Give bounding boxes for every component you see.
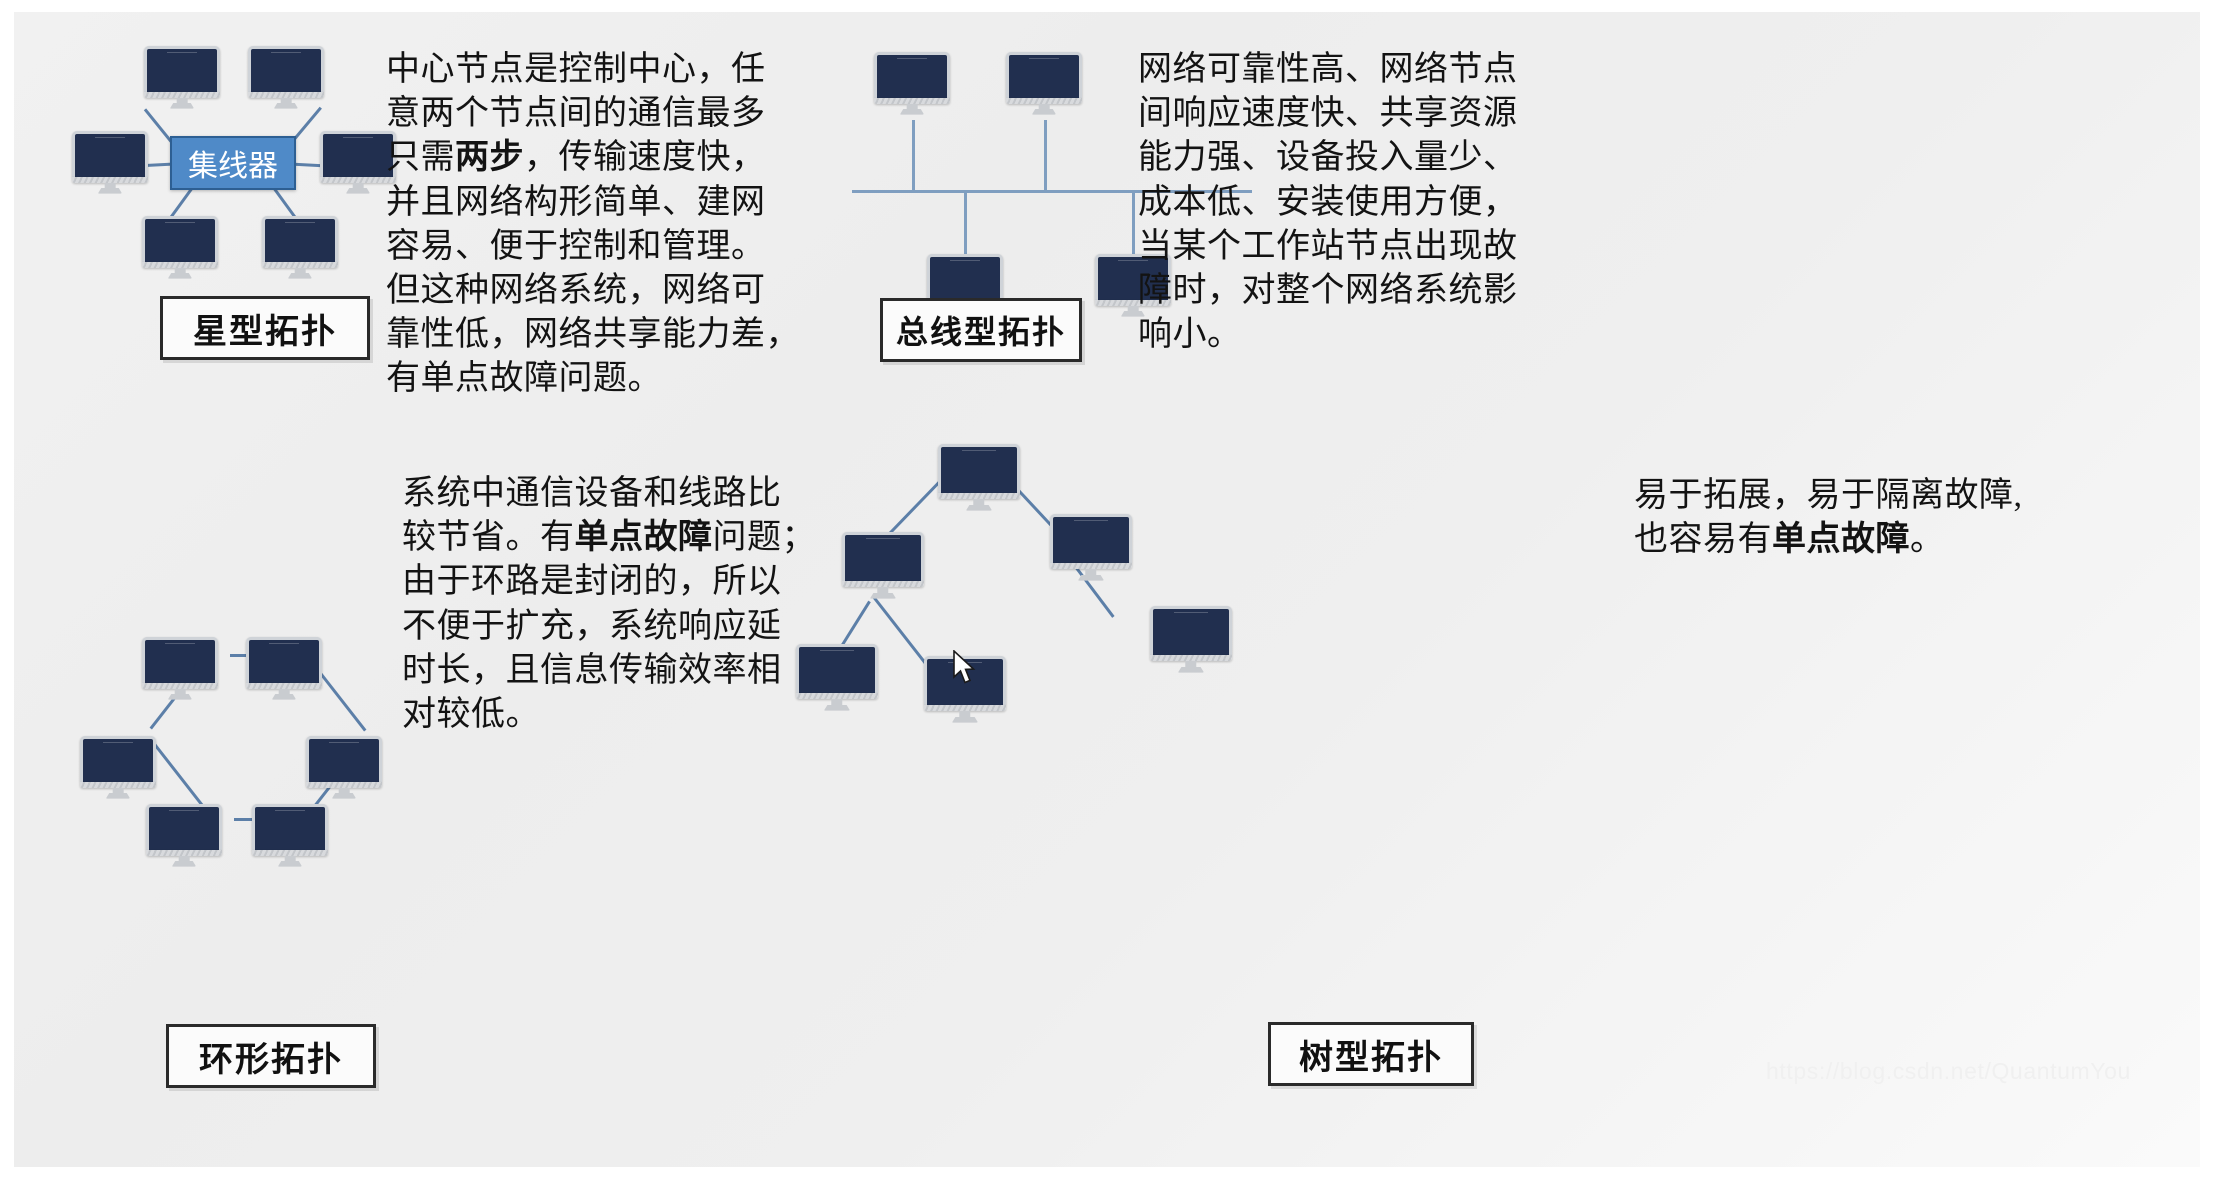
monitor-base	[796, 693, 878, 700]
monitor-screen	[142, 637, 218, 683]
tree-node-root	[938, 444, 1020, 510]
text-run: 靠性低，网络共享能力差，	[386, 316, 800, 353]
monitor-foot	[966, 505, 992, 511]
monitor-foot	[870, 593, 896, 599]
hub-box[interactable]: 集线器	[170, 136, 296, 190]
star-node-left	[72, 131, 148, 193]
ring-node-bottom-left	[146, 804, 222, 866]
tree-node-leaf-1	[796, 644, 878, 710]
text-run: 只需	[386, 139, 455, 176]
text-run: 时长，且信息传输效率相	[402, 652, 782, 689]
monitor-base	[938, 493, 1020, 500]
caption-star-topology: 星型拓扑	[160, 296, 370, 360]
star-description-text: 中心节点是控制中心，任意两个节点间的通信最多只需两步，传输速度快，并且网络构形简…	[386, 48, 786, 402]
mouse-cursor-icon	[952, 650, 978, 693]
emphasized-term: 单点故障	[575, 519, 713, 556]
text-run: 有单点故障问题。	[386, 360, 662, 397]
monitor-foot	[346, 188, 370, 194]
tree-topology-diagram	[800, 422, 1260, 752]
text-line: 当某个工作站节点出现故	[1138, 225, 1558, 269]
watermark-text: https://blog.csdn.net/QuantumYou	[1766, 1058, 2131, 1085]
text-run: 容易、便于控制和管理。	[386, 228, 766, 265]
text-run: 易于拓展，易于隔离故障,	[1634, 477, 2023, 514]
star-node-bottom-left	[142, 216, 218, 278]
text-run: 间响应速度快、共享资源	[1138, 95, 1518, 132]
monitor-foot	[170, 103, 194, 109]
text-line: 中心节点是控制中心，任	[386, 48, 786, 92]
monitor-foot	[106, 793, 130, 799]
star-node-top-right	[248, 46, 324, 108]
bus-drop-line-2	[1044, 120, 1047, 192]
text-run: 当某个工作站节点出现故	[1138, 228, 1518, 265]
tree-node-level2-right	[1050, 514, 1132, 580]
text-run: 但这种网络系统，网络可	[386, 272, 766, 309]
bus-drop-line-3	[964, 190, 967, 258]
ring-node-top-right	[246, 637, 322, 699]
text-line: 也容易有单点故障。	[1634, 518, 2074, 562]
ring-node-right	[306, 736, 382, 798]
text-run: 并且网络构形简单、建网	[386, 184, 766, 221]
hub-label: 集线器	[188, 141, 278, 185]
monitor-screen	[252, 804, 328, 850]
text-line: 间响应速度快、共享资源	[1138, 92, 1558, 136]
bus-node-top-right	[1006, 52, 1082, 114]
bus-node-top-left	[874, 52, 950, 114]
ring-node-top-left	[142, 637, 218, 699]
ring-link-upper-right	[315, 667, 367, 732]
text-line: 由于环路是封闭的，所以	[402, 560, 802, 604]
monitor-screen	[1050, 514, 1132, 563]
monitor-screen	[262, 216, 338, 262]
text-line: 意两个节点间的通信最多	[386, 92, 786, 136]
caption-tree-label: 树型拓扑	[1299, 1030, 1443, 1079]
text-line: 对较低。	[402, 693, 802, 737]
monitor-screen	[142, 216, 218, 262]
slide-root: 集线器 星型拓扑 中心节点是控制中心，任意两个节点间的通信最多只需两步，传输速度…	[0, 0, 2214, 1179]
monitor-foot	[1178, 667, 1204, 673]
tree-link-left-child2	[873, 597, 931, 670]
monitor-foot	[168, 273, 192, 279]
text-run: 系统中通信设备和线路比	[402, 475, 782, 512]
caption-star-label: 星型拓扑	[193, 304, 337, 353]
text-run: 成本低、安装使用方便，	[1138, 184, 1518, 221]
star-topology-diagram: 集线器	[34, 26, 394, 326]
caption-tree-topology: 树型拓扑	[1268, 1022, 1474, 1086]
monitor-foot	[98, 188, 122, 194]
ring-topology-diagram	[34, 452, 394, 752]
text-line: 靠性低，网络共享能力差，	[386, 313, 786, 357]
monitor-foot	[900, 109, 924, 115]
text-run: 较节省。有	[402, 519, 575, 556]
text-run: ，传输速度快，	[524, 139, 766, 176]
ring-link-lower-left	[153, 743, 205, 808]
text-line: 但这种网络系统，网络可	[386, 269, 786, 313]
monitor-base	[842, 581, 924, 588]
text-line: 易于拓展，易于隔离故障,	[1634, 474, 2074, 518]
text-run: 网络可靠性高、网络节点	[1138, 51, 1518, 88]
text-line: 只需两步，传输速度快，	[386, 136, 786, 180]
monitor-base	[1150, 655, 1232, 662]
monitor-foot	[172, 861, 196, 867]
monitor-screen	[248, 46, 324, 92]
monitor-foot	[1032, 109, 1056, 115]
monitor-foot	[332, 793, 356, 799]
monitor-foot	[278, 861, 302, 867]
monitor-foot	[952, 717, 978, 723]
emphasized-term: 两步	[455, 139, 524, 176]
text-line: 网络可靠性高、网络节点	[1138, 48, 1558, 92]
text-line: 响小。	[1138, 313, 1558, 357]
monitor-foot	[168, 694, 192, 700]
ring-node-left	[80, 736, 156, 798]
tree-node-level2-left	[842, 532, 924, 598]
monitor-screen	[1150, 606, 1232, 655]
emphasized-term: 单点故障	[1772, 521, 1910, 558]
caption-ring-label: 环形拓扑	[199, 1032, 343, 1081]
monitor-foot	[272, 694, 296, 700]
monitor-screen	[1006, 52, 1082, 98]
caption-ring-topology: 环形拓扑	[166, 1024, 376, 1088]
monitor-foot	[274, 103, 298, 109]
monitor-base	[1050, 563, 1132, 570]
monitor-screen	[144, 46, 220, 92]
monitor-screen	[796, 644, 878, 693]
monitor-screen	[874, 52, 950, 98]
text-line: 不便于扩充，系统响应延	[402, 605, 802, 649]
text-run: 响小。	[1138, 316, 1242, 353]
text-run: 障时，对整个网络系统影	[1138, 272, 1518, 309]
text-line: 容易、便于控制和管理。	[386, 225, 786, 269]
bus-description-text: 网络可靠性高、网络节点间响应速度快、共享资源能力强、设备投入量少、成本低、安装使…	[1138, 48, 1558, 357]
ring-node-bottom-right	[252, 804, 328, 866]
text-line: 障时，对整个网络系统影	[1138, 269, 1558, 313]
monitor-screen	[927, 254, 1003, 300]
text-run: 不便于扩充，系统响应延	[402, 608, 782, 645]
ring-description-text: 系统中通信设备和线路比较节省。有单点故障问题；由于环路是封闭的，所以不便于扩充，…	[402, 472, 802, 737]
caption-bus-label: 总线型拓扑	[896, 307, 1066, 353]
text-run: 也容易有	[1634, 521, 1772, 558]
tree-node-leaf-3	[1150, 606, 1232, 672]
text-run: 对较低。	[402, 696, 540, 733]
star-node-right	[320, 131, 396, 193]
text-line: 较节省。有单点故障问题；	[402, 516, 802, 560]
tree-link-left-child1	[841, 601, 871, 647]
text-line: 能力强、设备投入量少、	[1138, 136, 1558, 180]
text-line: 有单点故障问题。	[386, 357, 786, 401]
monitor-screen	[842, 532, 924, 581]
text-line: 系统中通信设备和线路比	[402, 472, 802, 516]
text-line: 时长，且信息传输效率相	[402, 649, 802, 693]
monitor-screen	[146, 804, 222, 850]
monitor-foot	[824, 705, 850, 711]
monitor-screen	[306, 736, 382, 782]
monitor-screen	[246, 637, 322, 683]
tree-description-text: 易于拓展，易于隔离故障,也容易有单点故障。	[1634, 474, 2074, 562]
monitor-screen	[320, 131, 396, 177]
monitor-base	[924, 705, 1006, 712]
text-run: 。	[1910, 521, 1945, 558]
monitor-foot	[288, 273, 312, 279]
monitor-screen	[72, 131, 148, 177]
slide-canvas: 集线器 星型拓扑 中心节点是控制中心，任意两个节点间的通信最多只需两步，传输速度…	[14, 12, 2200, 1167]
text-run: 由于环路是封闭的，所以	[402, 563, 782, 600]
bus-drop-line-1	[912, 120, 915, 192]
monitor-screen	[938, 444, 1020, 493]
star-node-bottom-right	[262, 216, 338, 278]
text-run: 能力强、设备投入量少、	[1138, 139, 1518, 176]
text-run: 意两个节点间的通信最多	[386, 95, 766, 132]
star-node-top-left	[144, 46, 220, 108]
text-run: 中心节点是控制中心，任	[386, 51, 766, 88]
monitor-foot	[1078, 575, 1104, 581]
caption-bus-topology: 总线型拓扑	[880, 298, 1082, 362]
text-line: 并且网络构形简单、建网	[386, 181, 786, 225]
text-run: 问题；	[713, 519, 817, 556]
monitor-screen	[80, 736, 156, 782]
text-line: 成本低、安装使用方便，	[1138, 181, 1558, 225]
bus-drop-line-4	[1132, 190, 1135, 258]
